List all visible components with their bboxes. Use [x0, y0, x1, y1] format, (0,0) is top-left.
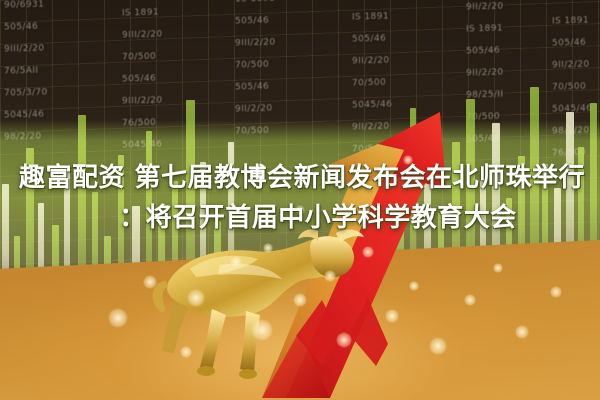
news-banner-image: 90/6931505/469III/2/2076/5AII705/3/70504…: [0, 0, 600, 400]
